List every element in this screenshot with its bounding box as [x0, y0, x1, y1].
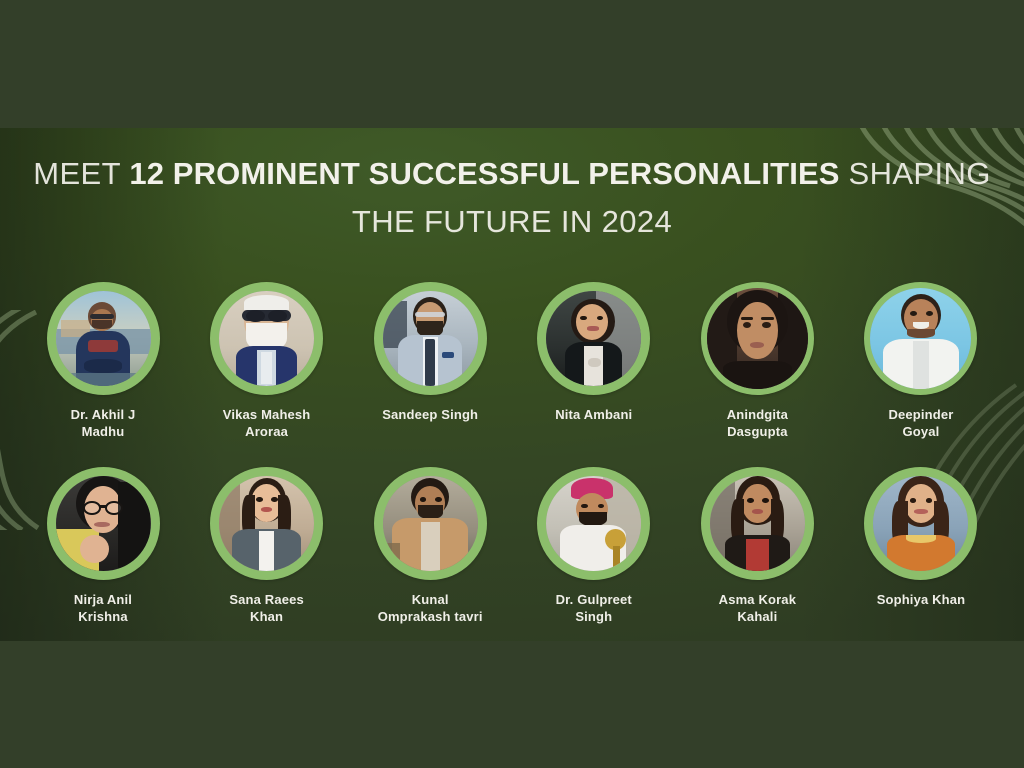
avatar-photo [546, 476, 641, 571]
person-name: Vikas Mahesh Aroraa [223, 406, 311, 441]
avatar-ring [864, 282, 977, 395]
person-card[interactable]: Nirja Anil Krishna [36, 467, 170, 626]
avatar-photo [56, 476, 151, 571]
person-name: Anindgita Dasgupta [727, 406, 788, 441]
people-row-1: Dr. Akhil J Madhu Vikas Mahesh Aroraa [0, 282, 1024, 441]
avatar-photo [219, 476, 314, 571]
person-card[interactable]: Dr. Akhil J Madhu [36, 282, 170, 441]
banner-title: MEET 12 PROMINENT SUCCESSFUL PERSONALITI… [0, 155, 1024, 242]
person-card[interactable]: Anindgita Dasgupta [690, 282, 824, 441]
person-name: Asma Korak Kahali [719, 591, 796, 626]
avatar-ring [210, 282, 323, 395]
avatar-ring [537, 467, 650, 580]
avatar-ring [537, 282, 650, 395]
avatar-ring [701, 467, 814, 580]
title-highlight: 12 PROMINENT SUCCESSFUL PERSONALITIES [129, 156, 839, 191]
person-name: Kunal Omprakash tavri [378, 591, 483, 626]
person-card[interactable]: Sana Raees Khan [200, 467, 334, 626]
people-row-2: Nirja Anil Krishna Sana Raees [0, 467, 1024, 626]
avatar-photo [383, 291, 478, 386]
avatar-photo [56, 291, 151, 386]
person-card[interactable]: Deepinder Goyal [854, 282, 988, 441]
title-line-2: THE FUTURE IN 2024 [0, 203, 1024, 242]
person-card[interactable]: Kunal Omprakash tavri [363, 467, 497, 626]
person-name: Sana Raees Khan [229, 591, 304, 626]
person-card[interactable]: Asma Korak Kahali [690, 467, 824, 626]
avatar-ring [47, 467, 160, 580]
avatar-photo [707, 288, 808, 389]
letterbox-bottom [0, 641, 1024, 768]
avatar-photo [219, 291, 314, 386]
person-name: Deepinder Goyal [888, 406, 953, 441]
avatar-photo [870, 288, 971, 389]
avatar-ring [701, 282, 814, 395]
letterbox-top [0, 0, 1024, 128]
title-prefix: MEET [33, 156, 129, 191]
avatar-photo [546, 291, 641, 386]
person-card[interactable]: Nita Ambani [527, 282, 661, 441]
person-name: Sophiya Khan [877, 591, 966, 608]
person-card[interactable]: Sandeep Singh [363, 282, 497, 441]
avatar-ring [864, 467, 977, 580]
avatar-photo [383, 476, 478, 571]
person-name: Sandeep Singh [382, 406, 478, 423]
title-suffix: SHAPING [840, 156, 991, 191]
person-card[interactable]: Vikas Mahesh Aroraa [200, 282, 334, 441]
avatar-ring [210, 467, 323, 580]
person-card[interactable]: Sophiya Khan [854, 467, 988, 626]
avatar-ring [374, 282, 487, 395]
avatar-photo [710, 476, 805, 571]
poster-canvas: MEET 12 PROMINENT SUCCESSFUL PERSONALITI… [0, 0, 1024, 768]
avatar-ring [47, 282, 160, 395]
avatar-photo [873, 476, 968, 571]
person-name: Nita Ambani [555, 406, 632, 423]
person-name: Nirja Anil Krishna [74, 591, 132, 626]
person-name: Dr. Gulpreet Singh [556, 591, 632, 626]
avatar-ring [374, 467, 487, 580]
person-card[interactable]: Dr. Gulpreet Singh [527, 467, 661, 626]
person-name: Dr. Akhil J Madhu [71, 406, 136, 441]
